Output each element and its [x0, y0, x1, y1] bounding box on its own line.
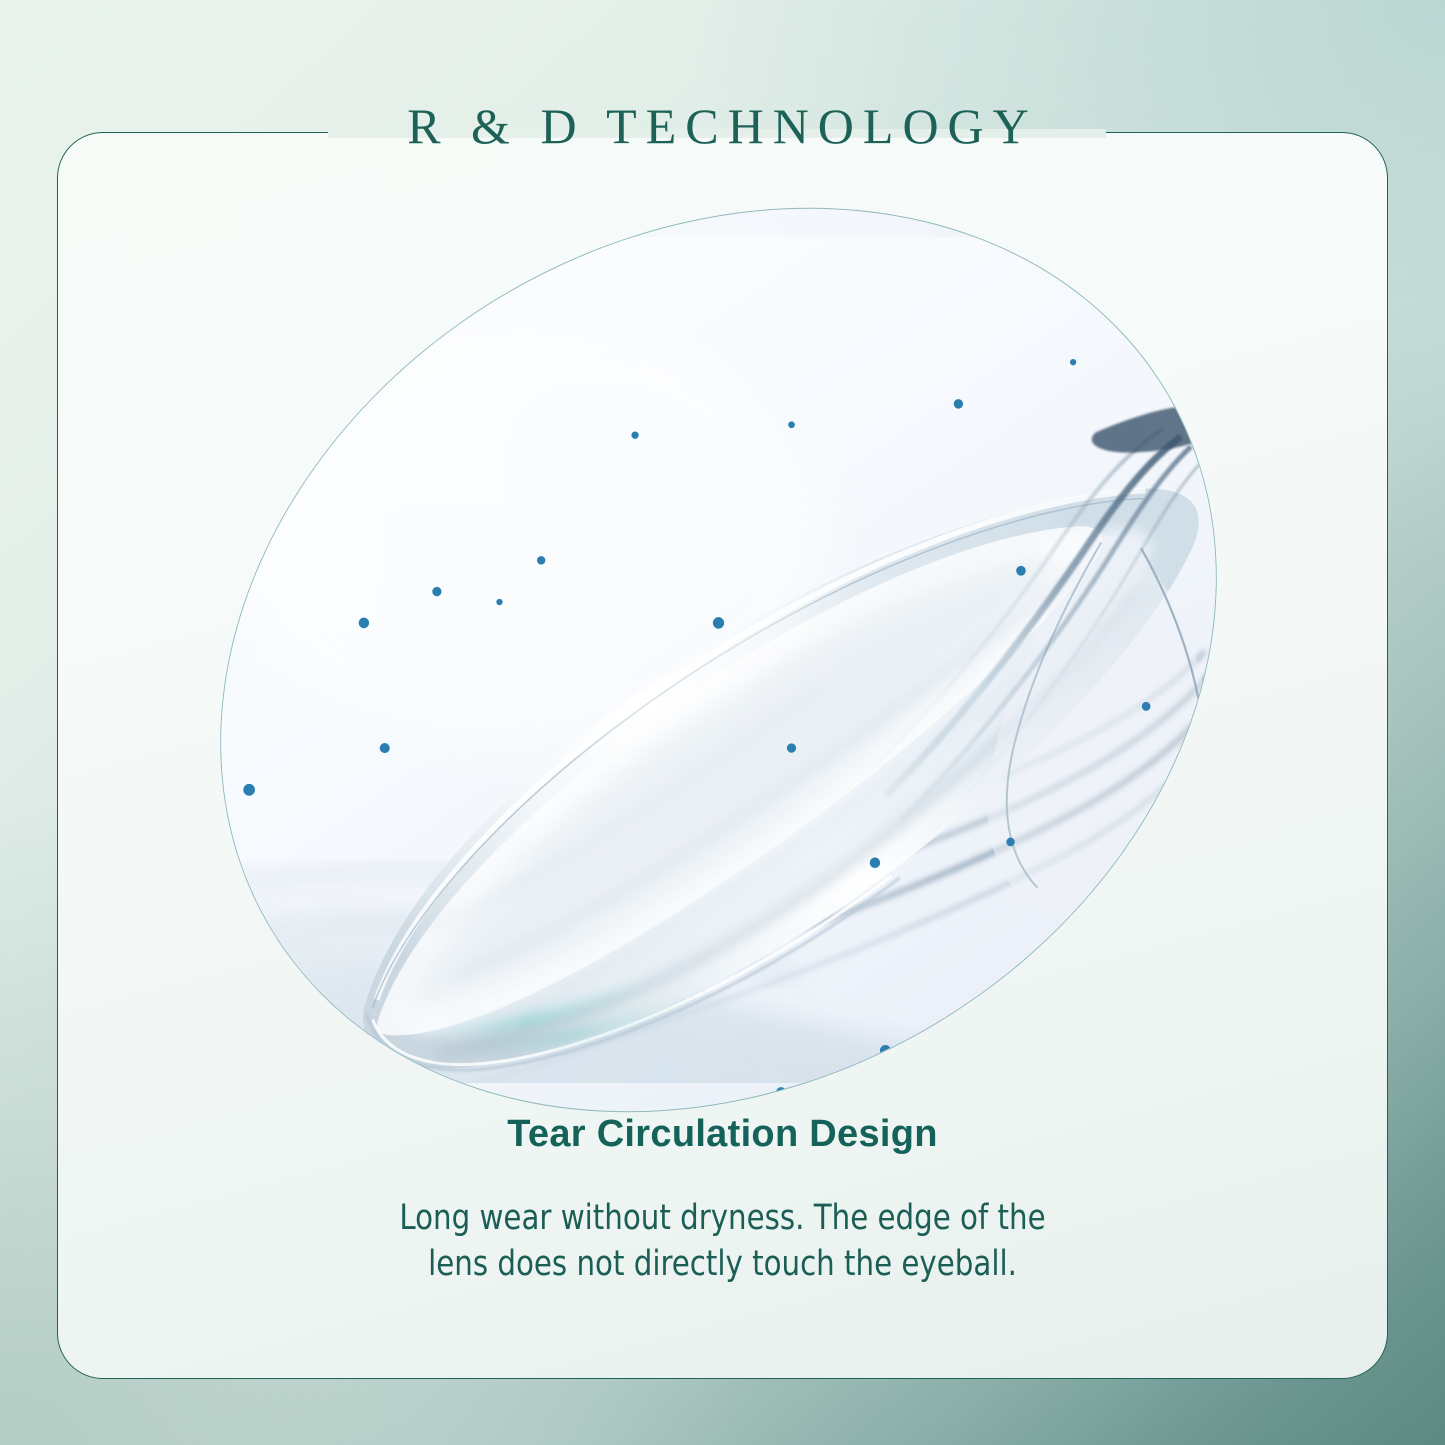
accent-dot — [1027, 993, 1037, 1003]
accent-dot — [1110, 889, 1119, 898]
hero-ellipse-content — [197, 237, 1240, 1083]
accent-dot — [1070, 359, 1076, 365]
feature-description: Long wear without dryness. The edge of t… — [51, 1195, 1395, 1287]
accent-dot — [1142, 702, 1151, 711]
accent-dot — [432, 587, 441, 596]
hero-image — [196, 236, 1241, 1084]
feature-description-line-2: lens does not directly touch the eyeball… — [51, 1241, 1395, 1287]
accent-dot — [496, 599, 502, 605]
accent-dot — [1006, 838, 1014, 847]
rd-technology-slide: R & D TECHNOLOGY — [0, 0, 1445, 1445]
accent-dot — [954, 399, 963, 409]
accent-dot — [537, 556, 545, 565]
accent-dot — [631, 431, 638, 438]
feature-description-line-1: Long wear without dryness. The edge of t… — [51, 1195, 1395, 1241]
accent-dot — [713, 617, 724, 628]
water-droplet-shape — [1194, 377, 1240, 457]
accent-dot — [1016, 566, 1026, 576]
accent-dot — [788, 421, 795, 428]
page-title: R & D TECHNOLOGY — [0, 101, 1445, 151]
accent-dot — [662, 1171, 671, 1180]
feature-heading: Tear Circulation Design — [0, 1115, 1445, 1153]
accent-dot — [776, 1087, 786, 1097]
accent-dot — [870, 857, 880, 868]
accent-dot — [787, 743, 796, 752]
accent-dot — [380, 743, 390, 753]
accent-dot — [880, 1045, 891, 1056]
accent-dot — [243, 784, 255, 796]
accent-dot — [359, 618, 369, 629]
